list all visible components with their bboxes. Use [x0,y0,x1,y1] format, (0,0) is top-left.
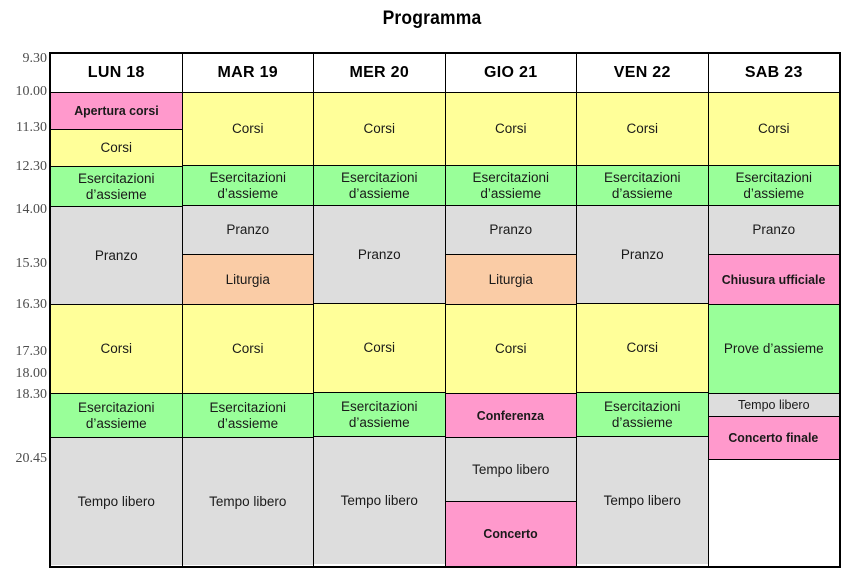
day-header-mar-19[interactable]: MAR 19 [182,53,314,93]
schedule-cell[interactable]: Pranzo [577,206,708,304]
schedule-cell-label: Tempo libero [709,398,840,412]
schedule-cell-label: Pranzo [709,222,840,238]
schedule-cell-label: Prove d’assieme [709,341,840,357]
schedule-cell[interactable]: Pranzo [446,206,577,255]
schedule-cell[interactable]: Pranzo [183,206,314,255]
schedule-cell-label: Esercitazionid’assieme [51,400,182,431]
time-label: 20.45 [1,452,47,466]
schedule-cell[interactable]: Corsi [183,305,314,394]
schedule-cell[interactable]: Corsi [446,305,577,394]
schedule-cell[interactable]: Liturgia [183,255,314,305]
schedule-cell[interactable]: Chiusura ufficiale [709,255,840,305]
day-column-lun-18: Apertura corsiCorsiEsercitazionid’assiem… [50,93,182,568]
schedule-cell-label: Esercitazionid’assieme [577,399,708,430]
schedule-grid: LUN 18MAR 19MER 20GIO 21VEN 22SAB 23 Ape… [49,52,832,518]
schedule-cell[interactable]: Corsi [314,304,445,393]
event-label: Apertura corsi [74,104,158,119]
time-label: 11.30 [1,121,47,135]
schedule-cell-label: Esercitazionid’assieme [51,171,182,202]
time-label: 16.30 [1,298,47,312]
schedule-cell[interactable]: Tempo libero [183,438,314,566]
schedule-cell-label: Esercitazionid’assieme [577,170,708,201]
day-column-cells: CorsiEsercitazionid’assiemePranzoLiturgi… [183,93,314,565]
schedule-cell[interactable]: Corsi [709,93,840,166]
event-label: Chiusura ufficiale [722,273,826,288]
schedule-cell-label: Liturgia [183,272,314,288]
schedule-cell-label: Concerto [446,526,577,542]
day-column-ven-22: CorsiEsercitazionid’assiemePranzoCorsiEs… [577,93,709,568]
schedule-cell-label: Esercitazionid’assieme [446,170,577,201]
schedule-cell[interactable]: Corsi [577,304,708,393]
schedule-cell[interactable]: Corsi [51,305,182,394]
schedule-cell[interactable]: Concerto [446,502,577,567]
schedule-cell[interactable]: Esercitazionid’assieme [577,393,708,437]
schedule-cell-label: Pranzo [314,247,445,263]
schedule-cell-label: Corsi [183,341,314,357]
day-column-cells: CorsiEsercitazionid’assiemePranzoLiturgi… [446,93,577,566]
schedule-cell[interactable]: Tempo libero [577,437,708,565]
time-label: 15.30 [1,257,47,271]
day-column-cells: CorsiEsercitazionid’assiemePranzoCorsiEs… [577,93,708,564]
schedule-cell-label: Corsi [446,341,577,357]
schedule-cell-label: Tempo libero [577,493,708,509]
day-column-mer-20: CorsiEsercitazionid’assiemePranzoCorsiEs… [314,93,446,568]
schedule-cell-label: Esercitazionid’assieme [314,170,445,201]
schedule-cell-label: Esercitazionid’assieme [314,399,445,430]
schedule-cell-label: Corsi [51,341,182,357]
schedule-cell[interactable]: Prove d’assieme [709,305,840,394]
time-label: 17.30 [1,345,47,359]
day-column-cells: CorsiEsercitazionid’assiemePranzoCorsiEs… [314,93,445,564]
schedule-cell-label: Liturgia [446,272,577,288]
day-column-cells: Apertura corsiCorsiEsercitazionid’assiem… [51,93,182,565]
event-label: Concerto finale [729,431,819,446]
day-header-lun-18[interactable]: LUN 18 [50,53,182,93]
schedule-cell-label: Corsi [314,340,445,356]
schedule-cell[interactable]: Pranzo [709,206,840,255]
schedule-cell-label: Pranzo [183,222,314,238]
schedule-cell[interactable]: Esercitazionid’assieme [314,166,445,206]
day-header-sab-23[interactable]: SAB 23 [708,53,840,93]
table-header-row: LUN 18MAR 19MER 20GIO 21VEN 22SAB 23 [50,53,840,93]
event-label: Conferenza [477,409,544,424]
schedule-cell[interactable]: Esercitazionid’assieme [51,167,182,207]
table-body-row: Apertura corsiCorsiEsercitazionid’assiem… [50,93,840,568]
schedule-cell[interactable]: Conferenza [446,394,577,438]
schedule-cell-label: Corsi [314,121,445,137]
schedule-cell-label: Corsi [51,140,182,156]
schedule-cell-label: Tempo libero [183,494,314,510]
time-label: 9.30 [1,52,47,66]
schedule-cell-label: Corsi [183,121,314,137]
schedule-cell-label: Chiusura ufficiale [709,272,840,288]
schedule-cell[interactable]: Corsi [577,93,708,166]
schedule-cell-label: Pranzo [577,247,708,263]
schedule-cell[interactable]: Tempo libero [446,438,577,502]
schedule-cell[interactable]: Esercitazionid’assieme [314,393,445,437]
day-header-mer-20[interactable]: MER 20 [314,53,446,93]
time-label: 18.30 [1,388,47,402]
schedule-cell-label: Concerto finale [709,430,840,446]
schedule-cell[interactable]: Tempo libero [314,437,445,565]
schedule-cell[interactable]: Tempo libero [709,394,840,417]
day-column-cells: CorsiEsercitazionid’assiemePranzoChiusur… [709,93,840,566]
schedule-cell-label: Tempo libero [51,494,182,510]
schedule-cell-label: Esercitazionid’assieme [183,170,314,201]
schedule-cell[interactable]: Esercitazionid’assieme [51,394,182,438]
schedule-cell[interactable] [709,460,840,567]
day-column-gio-21: CorsiEsercitazionid’assiemePranzoLiturgi… [445,93,577,568]
schedule-cell-label: Pranzo [446,222,577,238]
schedule-cell-label: Esercitazionid’assieme [183,400,314,431]
schedule-cell-label: Corsi [577,340,708,356]
schedule-page: Programma 9.3010.0011.3012.3014.0015.301… [0,0,864,537]
schedule-cell[interactable]: Esercitazionid’assieme [446,166,577,206]
schedule-cell[interactable]: Tempo libero [51,438,182,566]
schedule-cell[interactable]: Corsi [51,130,182,167]
schedule-cell[interactable]: Esercitazionid’assieme [577,166,708,206]
time-label: 12.30 [1,160,47,174]
schedule-cell[interactable]: Esercitazionid’assieme [709,166,840,206]
schedule-cell[interactable]: Corsi [314,93,445,166]
schedule-cell-label: Corsi [446,121,577,137]
page-title: Programma [35,8,830,30]
day-header-ven-22[interactable]: VEN 22 [577,53,709,93]
schedule-cell-label: Corsi [577,121,708,137]
schedule-cell-label: Corsi [709,121,840,137]
schedule-cell[interactable]: Pranzo [51,207,182,305]
day-column-sab-23: CorsiEsercitazionid’assiemePranzoChiusur… [708,93,840,568]
schedule-cell[interactable]: Corsi [183,93,314,166]
schedule-cell-label: Esercitazionid’assieme [709,170,840,201]
time-label: 10.00 [1,85,47,99]
time-label: 18.00 [1,367,47,381]
schedule-cell-label: Apertura corsi [51,103,182,119]
schedule-cell-label: Tempo libero [314,493,445,509]
schedule-cell[interactable]: Corsi [446,93,577,166]
event-label: Concerto [484,527,538,542]
schedule-cell[interactable]: Apertura corsi [51,93,182,130]
schedule-cell[interactable]: Esercitazionid’assieme [183,394,314,438]
schedule-cell-label: Pranzo [51,248,182,264]
schedule-cell[interactable]: Pranzo [314,206,445,304]
schedule-cell-label: Conferenza [446,408,577,424]
day-header-gio-21[interactable]: GIO 21 [445,53,577,93]
schedule-cell[interactable]: Liturgia [446,255,577,305]
schedule-cell[interactable]: Concerto finale [709,417,840,460]
time-axis-column: 9.3010.0011.3012.3014.0015.3016.3017.301… [0,52,47,518]
time-label: 14.00 [1,203,47,217]
schedule-table: LUN 18MAR 19MER 20GIO 21VEN 22SAB 23 Ape… [49,52,841,568]
schedule-cell-label: Tempo libero [446,462,577,478]
schedule-cell[interactable]: Esercitazionid’assieme [183,166,314,206]
day-column-mar-19: CorsiEsercitazionid’assiemePranzoLiturgi… [182,93,314,568]
